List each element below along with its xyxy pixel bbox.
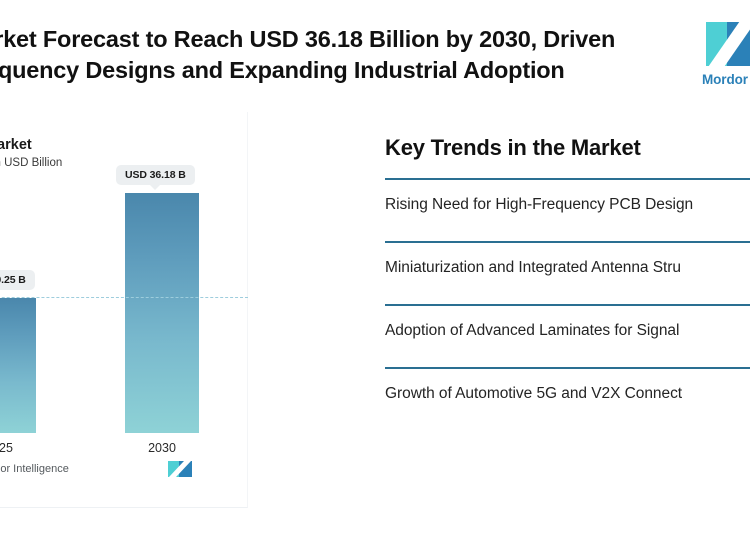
list-item[interactable]: Growth of Automotive 5G and V2X Connect xyxy=(385,367,750,430)
list-item[interactable]: Adoption of Advanced Laminates for Signa… xyxy=(385,304,750,367)
page-header: Market Forecast to Reach USD 36.18 Billi… xyxy=(0,0,750,112)
bar-value-label-2030: USD 36.18 B xyxy=(116,165,195,185)
trend-label: Adoption of Advanced Laminates for Signa… xyxy=(385,322,679,340)
list-item[interactable]: Rising Need for High-Frequency PCB Desig… xyxy=(385,178,750,241)
reference-dashed-line xyxy=(0,297,248,298)
logo-slash-icon xyxy=(702,18,750,70)
chart-subtitle: t Size in USD Billion xyxy=(0,157,62,169)
trend-label: Growth of Automotive 5G and V2X Connect xyxy=(385,385,682,403)
source-attribution: e : Mordor Intelligence xyxy=(0,463,69,475)
x-axis-tick-2030: 2030 xyxy=(125,441,199,455)
bar-2025 xyxy=(0,298,36,433)
page-title: Market Forecast to Reach USD 36.18 Billi… xyxy=(0,24,662,86)
brand-name-label: Mordor xyxy=(702,72,750,87)
brand-logo: Mordor xyxy=(702,18,750,87)
trend-label: Rising Need for High-Frequency PCB Desig… xyxy=(385,196,693,214)
bar-chart-plot-area: USD 20.25 B USD 36.18 B 2025 2030 xyxy=(0,190,248,455)
chart-footer: e : Mordor Intelligence xyxy=(0,459,248,485)
mordor-logo-icon xyxy=(706,18,750,68)
mordor-mini-logo-icon xyxy=(166,459,196,479)
market-chart-card: CB Market t Size in USD Billion 12.31% U… xyxy=(0,112,248,508)
bar-value-label-2025: USD 20.25 B xyxy=(0,270,35,290)
list-item[interactable]: Miniaturization and Integrated Antenna S… xyxy=(385,241,750,304)
chart-title: CB Market xyxy=(0,137,32,153)
trend-label: Miniaturization and Integrated Antenna S… xyxy=(385,259,681,277)
key-trends-panel: Key Trends in the Market Rising Need for… xyxy=(385,112,750,508)
x-axis-tick-2025: 2025 xyxy=(0,441,36,455)
key-trends-title: Key Trends in the Market xyxy=(385,135,641,161)
key-trends-list: Rising Need for High-Frequency PCB Desig… xyxy=(385,178,750,430)
bar-2030 xyxy=(125,193,199,433)
